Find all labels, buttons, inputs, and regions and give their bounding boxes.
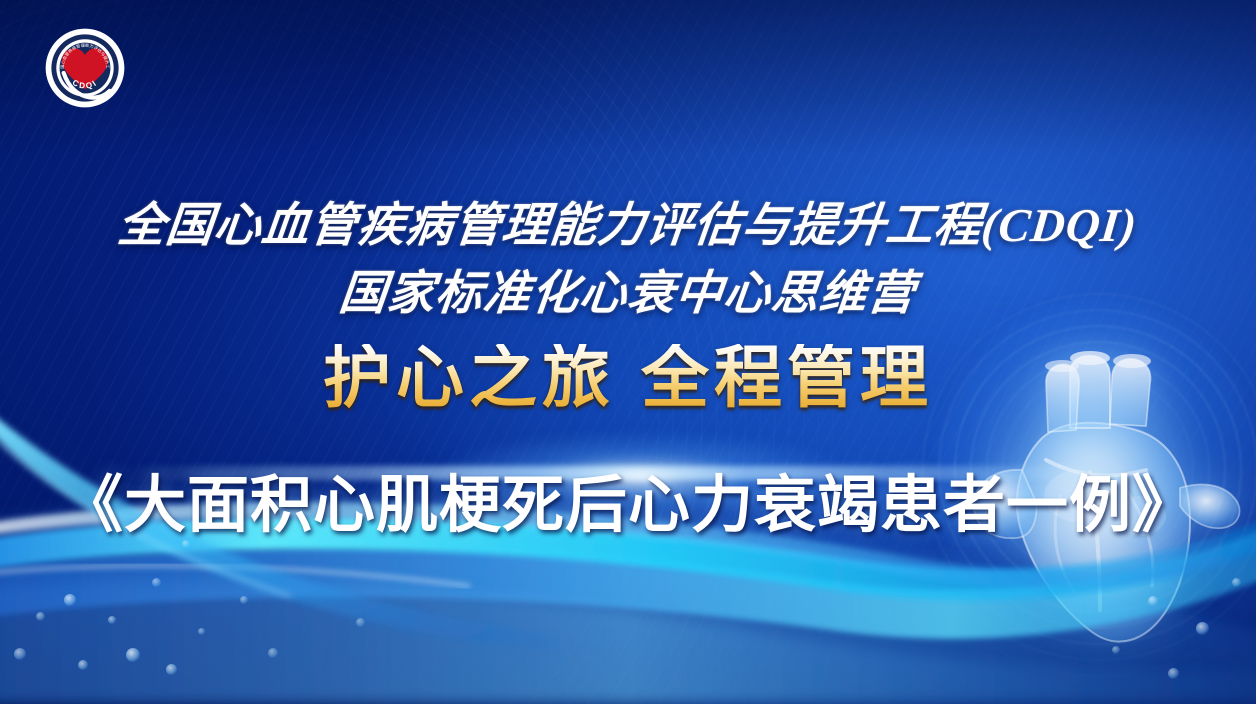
bokeh-dot [14, 648, 26, 660]
bokeh-dot [64, 594, 76, 606]
bokeh-dot [36, 612, 45, 621]
bokeh-dot [268, 648, 278, 658]
slogan-fill: 护心之旅全程管理 [323, 344, 933, 412]
slogan-part2: 全程管理 [641, 340, 933, 416]
bokeh-dot [240, 596, 248, 604]
bokeh-dot [1168, 668, 1179, 679]
slogan: 护心之旅全程管理 护心之旅全程管理 [0, 344, 1256, 412]
slogan-part1: 护心之旅 [323, 340, 615, 416]
bokeh-dot [126, 648, 140, 662]
bokeh-dot [1196, 622, 1209, 635]
bokeh-dot [78, 660, 88, 670]
bokeh-dot [1148, 596, 1158, 606]
poster-canvas: 全国心血管疾病管理能力评估与提升工程 CDQI 全国心血管疾病管理能力评估与提升… [0, 0, 1256, 704]
bokeh-dot [166, 664, 177, 675]
bokeh-dot [182, 540, 190, 548]
bokeh-dot [1232, 578, 1241, 587]
program-title-line1: 全国心血管疾病管理能力评估与提升工程(CDQI) [0, 186, 1256, 255]
case-title: 《大面积心肌梗死后心力衰竭患者一例》 [0, 472, 1256, 540]
bokeh-dot [1112, 646, 1120, 654]
cdqi-logo[interactable]: 全国心血管疾病管理能力评估与提升工程 CDQI [44, 27, 126, 109]
program-title-line2: 国家标准化心衰中心思维营 [0, 254, 1256, 323]
bokeh-dot [198, 628, 205, 635]
bokeh-dot [108, 616, 116, 624]
bokeh-dot [356, 618, 365, 627]
bokeh-dot [152, 578, 161, 587]
